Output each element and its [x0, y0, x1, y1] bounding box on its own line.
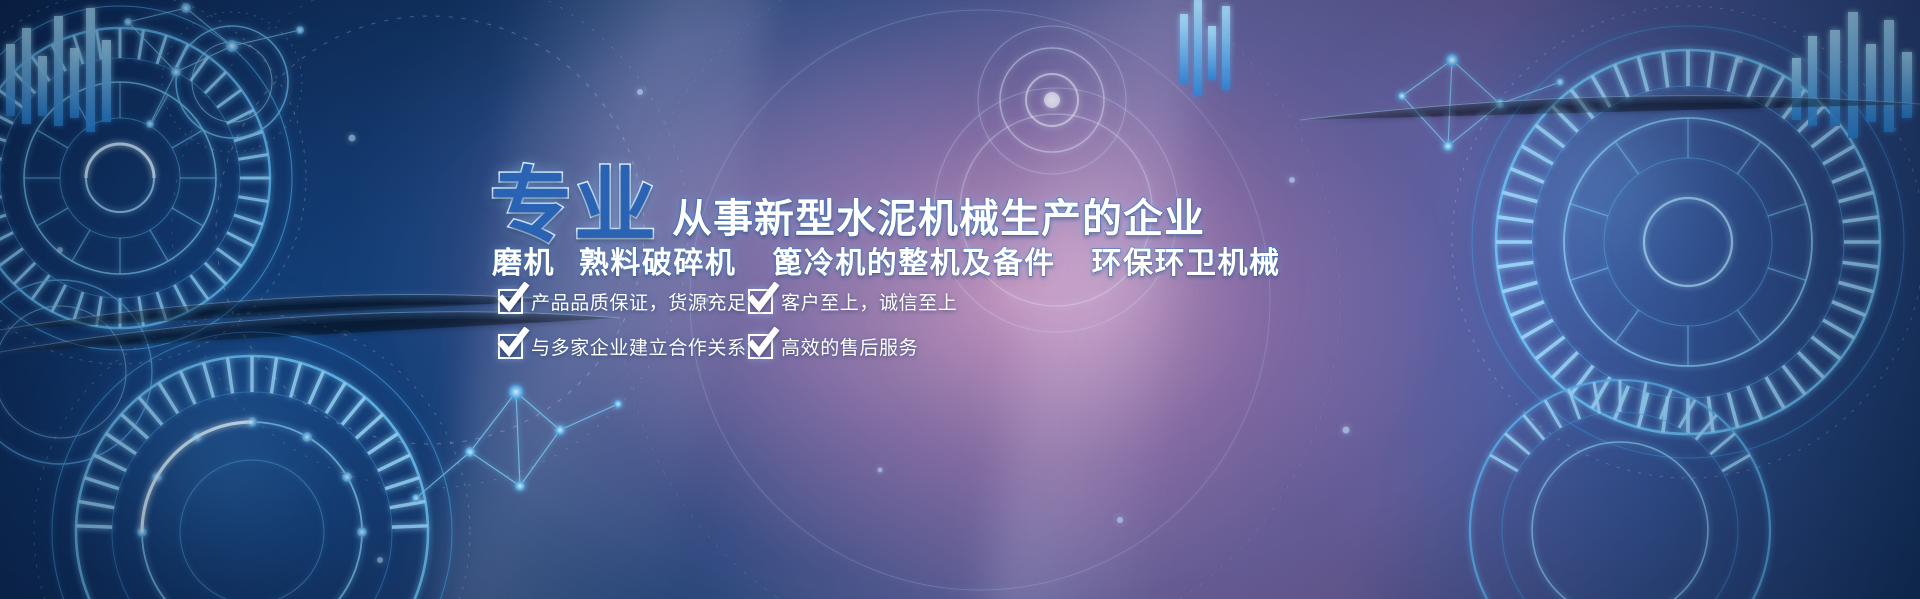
feature-label-1: 产品品质保证，货源充足 [531, 288, 747, 315]
check-icon [498, 334, 523, 359]
feature-item-4: 高效的售后服务 [748, 333, 918, 360]
feature-item-3: 与多家企业建立合作关系 [498, 333, 748, 360]
feature-list: 产品品质保证，货源充足 客户至上，诚信至上 与多家企业建立合作关系 [498, 288, 1018, 378]
hero-banner: 专业 从事新型水泥机械生产的企业 磨机 熟料破碎机 篦冷机的整机及备件 环保环卫… [0, 0, 1920, 599]
headline-keyword: 专业 [490, 168, 658, 245]
check-icon [748, 289, 773, 314]
feature-item-2: 客户至上，诚信至上 [748, 288, 957, 315]
product-line: 磨机 熟料破碎机 篦冷机的整机及备件 环保环卫机械 [492, 238, 1281, 282]
feature-item-1: 产品品质保证，货源充足 [498, 288, 748, 315]
check-icon [748, 334, 773, 359]
feature-row-2: 与多家企业建立合作关系 高效的售后服务 [498, 333, 1018, 360]
feature-label-4: 高效的售后服务 [781, 333, 918, 360]
banner-content: 专业 从事新型水泥机械生产的企业 磨机 熟料破碎机 篦冷机的整机及备件 环保环卫… [0, 0, 1920, 599]
feature-label-2: 客户至上，诚信至上 [781, 288, 957, 315]
headline-subtitle: 从事新型水泥机械生产的企业 [672, 199, 1205, 239]
feature-label-3: 与多家企业建立合作关系 [531, 333, 747, 360]
feature-row-1: 产品品质保证，货源充足 客户至上，诚信至上 [498, 288, 1018, 315]
headline-group: 专业 从事新型水泥机械生产的企业 [490, 168, 1205, 245]
check-icon [498, 289, 523, 314]
